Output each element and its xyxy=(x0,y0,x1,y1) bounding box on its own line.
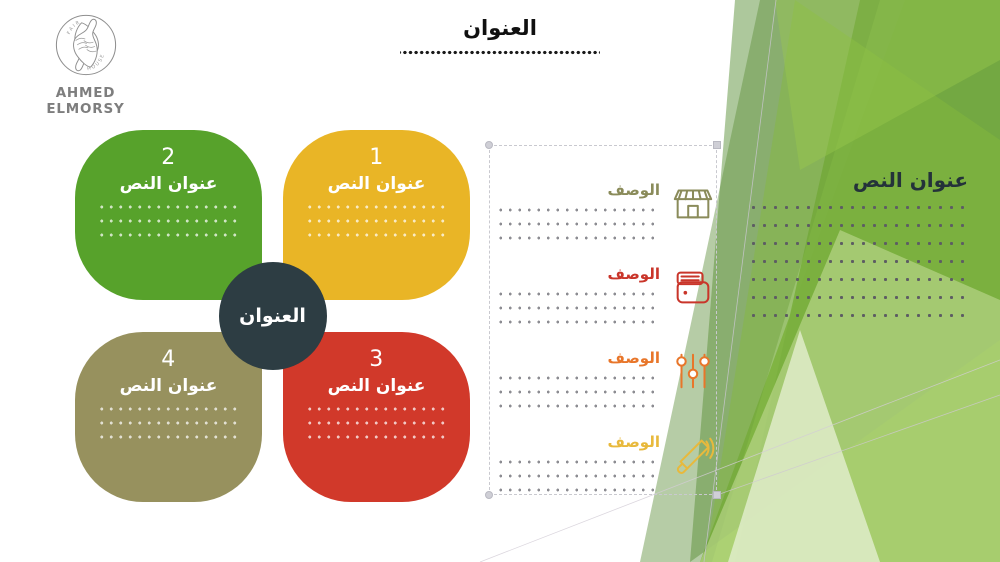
brand-name: AHMED ELMORSY xyxy=(18,85,153,117)
sliders-icon xyxy=(670,348,716,394)
icon-list-lines xyxy=(496,207,660,241)
icon-list-label: الوصف xyxy=(496,350,660,367)
icon-list-item[interactable]: الوصف xyxy=(490,348,718,417)
icon-list-label: الوصف xyxy=(496,266,660,283)
slide-title-block: العنوان xyxy=(300,16,700,56)
petal-4[interactable]: 4 عنوان النص xyxy=(75,332,262,502)
wallet-icon xyxy=(670,264,716,310)
petal-number: 4 xyxy=(97,348,240,372)
storefront-icon xyxy=(670,180,716,226)
petal-hub-label: العنوان xyxy=(239,305,306,327)
petal-number: 2 xyxy=(97,146,240,170)
petal-number: 1 xyxy=(305,146,448,170)
petal-diagram: 2 عنوان النص 1 عنوان النص 4 عنوان النص 3… xyxy=(75,130,470,502)
petal-placeholder-lines xyxy=(305,406,448,440)
icon-list-item[interactable]: الوصف xyxy=(490,432,718,501)
page-title: العنوان xyxy=(300,16,700,40)
right-block-title: عنوان النص xyxy=(748,168,968,192)
petal-placeholder-lines xyxy=(305,204,448,238)
icon-list-lines xyxy=(496,291,660,325)
icon-list-item[interactable]: الوصف xyxy=(490,180,718,249)
icon-list-item[interactable]: الوصف xyxy=(490,264,718,333)
handshake-circle-logo-icon: FAIR HOUSE xyxy=(49,8,123,82)
placeholder-handle-top-right[interactable] xyxy=(713,141,721,149)
title-dotted-rule xyxy=(400,49,600,56)
icon-list-label: الوصف xyxy=(496,434,660,451)
petal-title: عنوان النص xyxy=(305,376,448,396)
brand-logo: FAIR HOUSE AHMED ELMORSY xyxy=(18,8,153,117)
right-block-lines xyxy=(748,204,968,319)
petal-hub[interactable]: العنوان xyxy=(219,262,327,370)
petal-number: 3 xyxy=(305,348,448,372)
petal-3[interactable]: 3 عنوان النص xyxy=(283,332,470,502)
slide-canvas: FAIR HOUSE AHMED ELMORSY العنوان 2 عنوان… xyxy=(0,0,1000,562)
petal-title: عنوان النص xyxy=(305,174,448,194)
petal-1[interactable]: 1 عنوان النص xyxy=(283,130,470,300)
placeholder-handle-top-left[interactable] xyxy=(485,141,493,149)
petal-2[interactable]: 2 عنوان النص xyxy=(75,130,262,300)
petal-placeholder-lines xyxy=(97,406,240,440)
icon-list-lines xyxy=(496,459,660,493)
petal-title: عنوان النص xyxy=(97,376,240,396)
icon-list-label: الوصف xyxy=(496,182,660,199)
icon-list-lines xyxy=(496,375,660,409)
megaphone-icon xyxy=(670,432,716,478)
petal-title: عنوان النص xyxy=(97,174,240,194)
icon-list-placeholder[interactable]: الوصف الوصف xyxy=(489,145,717,495)
petal-placeholder-lines xyxy=(97,204,240,238)
right-text-block[interactable]: عنوان النص xyxy=(748,168,968,330)
